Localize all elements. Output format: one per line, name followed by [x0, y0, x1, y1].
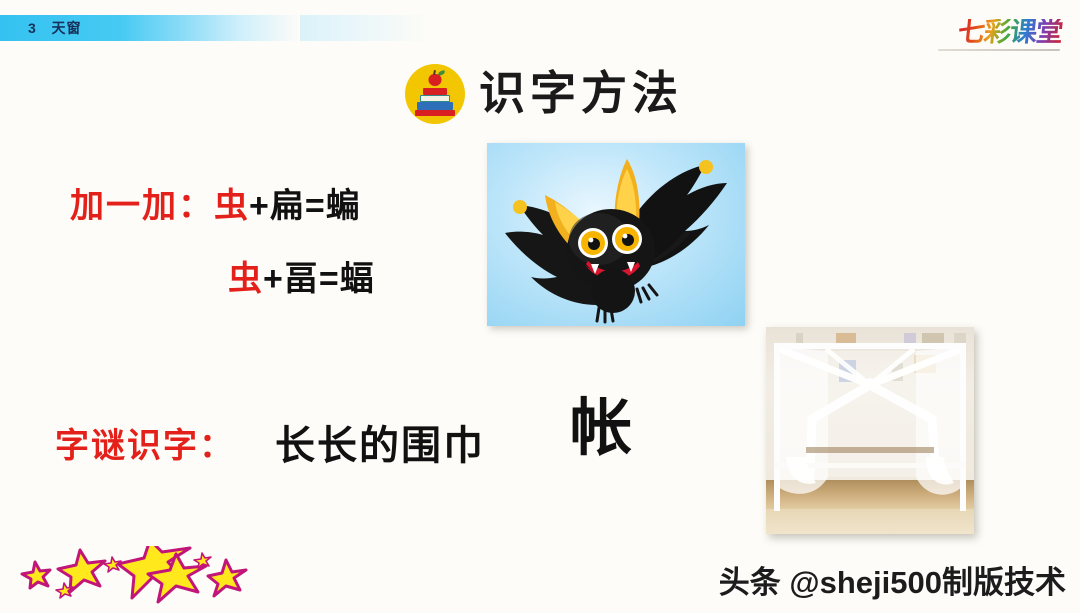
equation-1: 虫+扁=蝙: [214, 178, 361, 227]
page-title: 识字方法: [479, 71, 683, 117]
net-canopy-icon: [766, 327, 974, 534]
stars-icon: [8, 546, 258, 608]
book-stack-layer-4: [415, 110, 455, 116]
bat-icon: [487, 143, 745, 326]
book-stack-layer-1: [423, 88, 447, 95]
equation-1-equals: =: [305, 187, 326, 225]
apple-icon: [429, 74, 442, 86]
equation-2-equals: =: [319, 260, 340, 298]
header-bar-fade: [300, 15, 430, 41]
section-title: 识字方法: [405, 64, 683, 124]
method-riddle-row: 字谜识字：: [55, 418, 235, 467]
method-add-row: 加一加： 虫+扁=蝙: [70, 178, 361, 227]
method-add-label: 加一加：: [70, 178, 214, 227]
riddle-answer: 帐: [570, 398, 632, 460]
books-apple-icon: [405, 64, 465, 124]
riddle-clue: 长长的围巾: [275, 413, 485, 471]
equation-1-result: 蝙: [326, 187, 361, 225]
equation-1-right: 扁: [270, 187, 305, 225]
brand-logo-text: 七彩课堂: [957, 19, 1064, 46]
slide-root: 3 天窗 七彩课堂 识字方法 加一加： 虫+扁=蝙 虫+畐=蝠 字谜识字： 长长…: [0, 0, 1080, 608]
equation-2-left: 虫: [228, 260, 263, 298]
book-stack-layer-2: [420, 95, 450, 102]
equation-1-left: 虫: [214, 187, 249, 225]
yellow-stars-decoration: [8, 546, 258, 608]
equation-2: 虫+畐=蝠: [228, 260, 375, 298]
equation-2-result: 蝠: [340, 260, 375, 298]
equation-1-plus: +: [249, 187, 270, 225]
equation-2-right: 畐: [284, 260, 319, 298]
brand-logo: 七彩课堂: [958, 14, 1062, 50]
method-riddle-label: 字谜识字：: [55, 418, 235, 467]
method-add-row-2: 虫+畐=蝠: [228, 251, 375, 300]
brand-underline: [938, 49, 1060, 51]
watermark-text: 头条 @sheji500制版技术: [719, 557, 1066, 602]
book-stack-layer-3: [417, 102, 453, 110]
equation-2-plus: +: [263, 260, 284, 298]
mosquito-net-photo: [766, 327, 974, 534]
breadcrumb: 3 天窗: [28, 15, 81, 41]
cartoon-bat-illustration: [487, 143, 745, 326]
